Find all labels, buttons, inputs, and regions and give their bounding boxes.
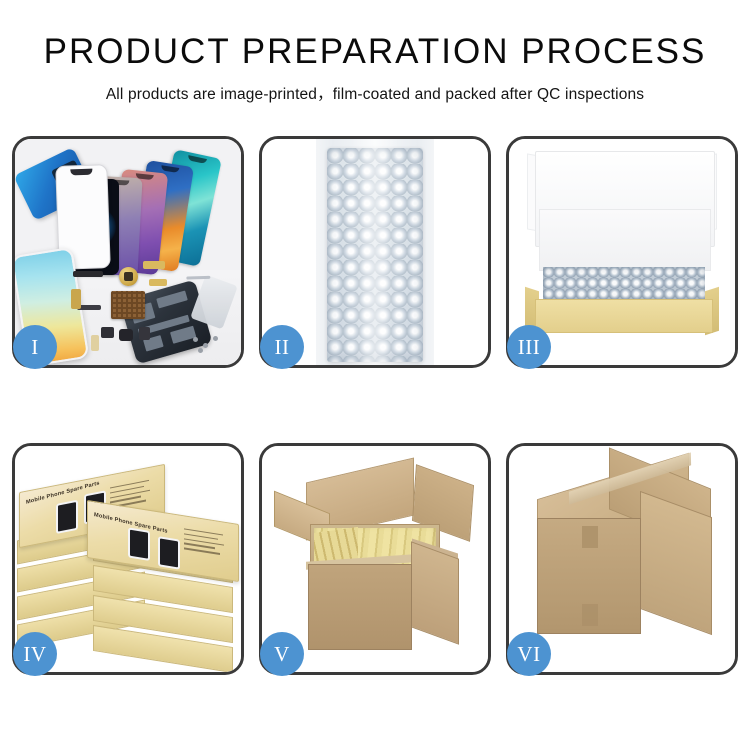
screws-icon (191, 335, 221, 355)
flex-cable-icon (71, 289, 81, 309)
flex-cable-icon (149, 279, 167, 286)
phone-thumbnail-icon (158, 536, 180, 569)
small-part-icon (139, 327, 150, 340)
chip-grid-icon (111, 291, 145, 319)
carton-side-panel (411, 541, 459, 644)
step-badge-3: III (507, 325, 551, 369)
notch-icon (160, 165, 179, 173)
bubble-wrapped-item-icon (543, 267, 705, 301)
box-interior (539, 209, 711, 271)
process-steps-grid: I II III (12, 136, 738, 675)
step-badge-5: V (260, 632, 304, 676)
step-panel-5: V (259, 443, 491, 675)
step-badge-6: VI (507, 632, 551, 676)
step-panel-3: III (506, 136, 738, 368)
notch-icon (70, 169, 92, 176)
flex-cable-icon (91, 335, 99, 351)
carton-front-panel (308, 564, 412, 650)
step-badge-2: II (260, 325, 304, 369)
step-panel-4: Mobile Phone Spare Parts Mobile Phone Sp… (12, 443, 244, 675)
carton-side-panel (640, 491, 712, 635)
phone-thumbnail-icon (128, 527, 150, 560)
step-panel-2: II (259, 136, 491, 368)
step-panel-6: VI (506, 443, 738, 675)
box-spec-lines (184, 528, 228, 565)
box-front-panel (535, 299, 713, 333)
gloss-highlight (351, 139, 399, 365)
header: PRODUCT PREPARATION PROCESS All products… (0, 0, 750, 104)
speaker-module-icon (119, 267, 138, 286)
carton-seam-tab (582, 604, 598, 626)
page-subtitle: All products are image-printed，film-coat… (0, 82, 750, 104)
small-part-icon (119, 329, 133, 341)
notch-icon (187, 155, 207, 164)
step-badge-4: IV (13, 632, 57, 676)
step-panel-1: I (12, 136, 244, 368)
product-preparation-infographic: PRODUCT PREPARATION PROCESS All products… (0, 0, 750, 750)
page-title: PRODUCT PREPARATION PROCESS (0, 34, 750, 71)
carton-seam-tab (582, 526, 598, 548)
flex-cable-icon (143, 261, 165, 269)
connector-strip-icon (73, 271, 103, 277)
small-part-icon (101, 327, 114, 338)
step-badge-1: I (13, 325, 57, 369)
phone-thumbnail-icon (56, 500, 78, 534)
